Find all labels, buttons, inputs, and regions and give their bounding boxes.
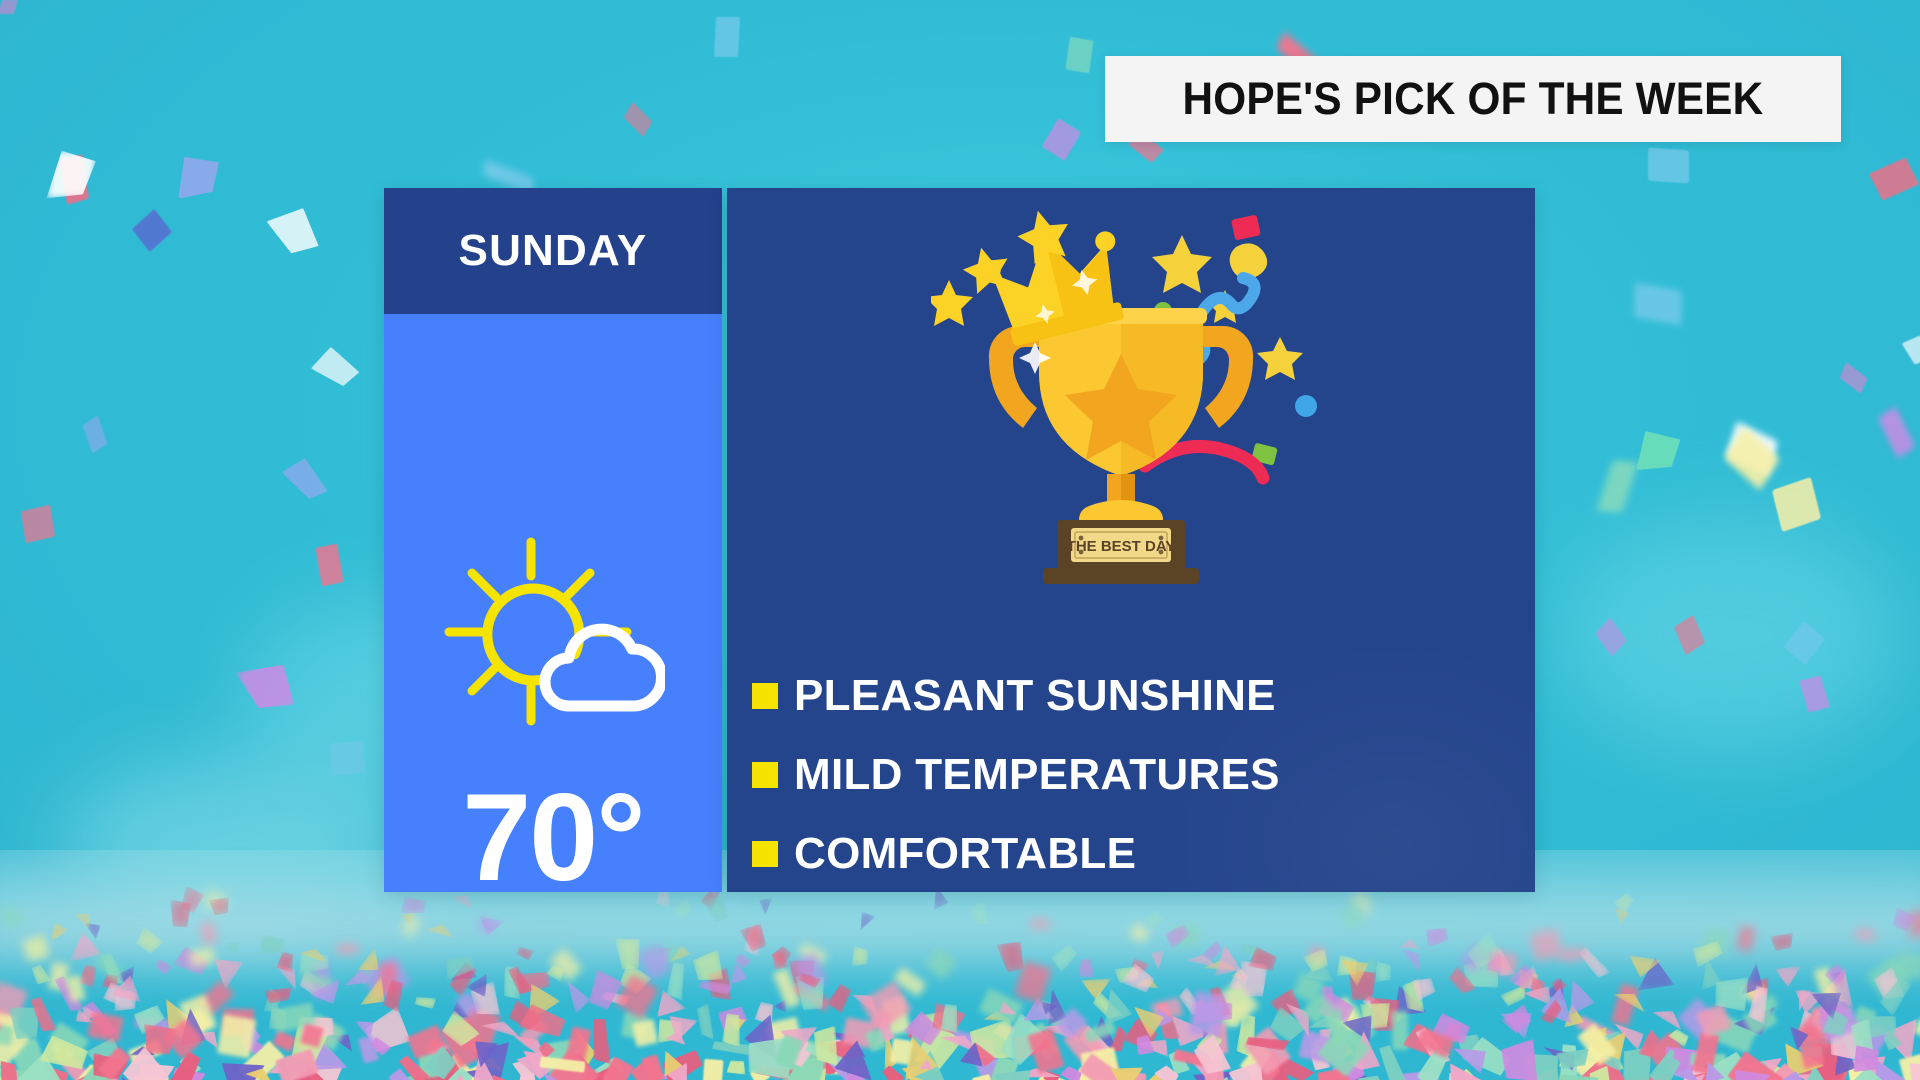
day-card-body: 70° <box>384 314 722 892</box>
confetti-flake <box>1775 966 1801 987</box>
temperature-value: 70° <box>384 776 722 900</box>
confetti-flake <box>414 996 436 1009</box>
confetti-flake <box>1078 958 1094 979</box>
trophy-plaque-text: THE BEST DAY <box>1067 538 1176 555</box>
confetti-flake <box>1501 1002 1536 1036</box>
yellow-square-bullet-icon <box>752 841 778 867</box>
confetti-flake <box>217 1014 256 1058</box>
trophy-illustration: THE BEST DAY <box>727 198 1535 598</box>
confetti-flake <box>590 1017 611 1065</box>
headline-text: HOPE'S PICK OF THE WEEK <box>1183 73 1764 125</box>
forecast-day-card: SUNDAY <box>384 188 722 892</box>
confetti-flake <box>726 1060 745 1074</box>
confetti-flake <box>1189 991 1226 1038</box>
confetti-flake <box>1121 962 1156 995</box>
list-item: COMFORTABLE <box>752 814 1515 892</box>
confetti-flake <box>703 1059 724 1080</box>
confetti-flake <box>632 1019 659 1047</box>
highlight-list: PLEASANT SUNSHINE MILD TEMPERATURES COMF… <box>752 656 1515 892</box>
confetti-piece <box>714 17 740 57</box>
day-label: SUNDAY <box>459 226 648 276</box>
confetti-flake <box>972 1074 992 1080</box>
list-item-label: COMFORTABLE <box>794 829 1136 879</box>
confetti-flake <box>1529 928 1562 961</box>
confetti-flake <box>696 1003 716 1042</box>
weather-graphic-stage: HOPE'S PICK OF THE WEEK SUNDAY <box>0 0 1920 1080</box>
confetti-flake <box>1375 961 1391 982</box>
confetti-flake <box>1081 977 1112 1000</box>
pick-detail-card: THE BEST DAY <box>727 188 1535 892</box>
confetti-flake <box>87 1012 123 1043</box>
confetti-flake <box>880 1064 905 1080</box>
confetti-flake <box>1030 918 1051 929</box>
headline-banner: HOPE'S PICK OF THE WEEK <box>1105 56 1841 142</box>
list-item-label: MILD TEMPERATURES <box>794 750 1280 800</box>
confetti-piece <box>1648 148 1689 184</box>
confetti-flake <box>825 982 853 1014</box>
list-item: PLEASANT SUNSHINE <box>752 656 1515 735</box>
confetti-flake <box>1559 947 1585 961</box>
confetti-flake <box>1027 1028 1064 1074</box>
confetti-piece <box>21 505 55 543</box>
yellow-square-bullet-icon <box>752 683 778 709</box>
list-item-label: PLEASANT SUNSHINE <box>794 671 1276 721</box>
day-card-header: SUNDAY <box>384 188 722 314</box>
sun-behind-cloud-icon <box>441 536 665 741</box>
confetti-piece <box>330 741 365 776</box>
confetti-flake <box>559 976 593 1014</box>
confetti-flake <box>153 958 173 977</box>
list-item: MILD TEMPERATURES <box>752 735 1515 814</box>
yellow-square-bullet-icon <box>752 762 778 788</box>
confetti-piece <box>1065 37 1093 74</box>
confetti-flake <box>337 944 358 954</box>
confetti-flake <box>890 1038 913 1065</box>
